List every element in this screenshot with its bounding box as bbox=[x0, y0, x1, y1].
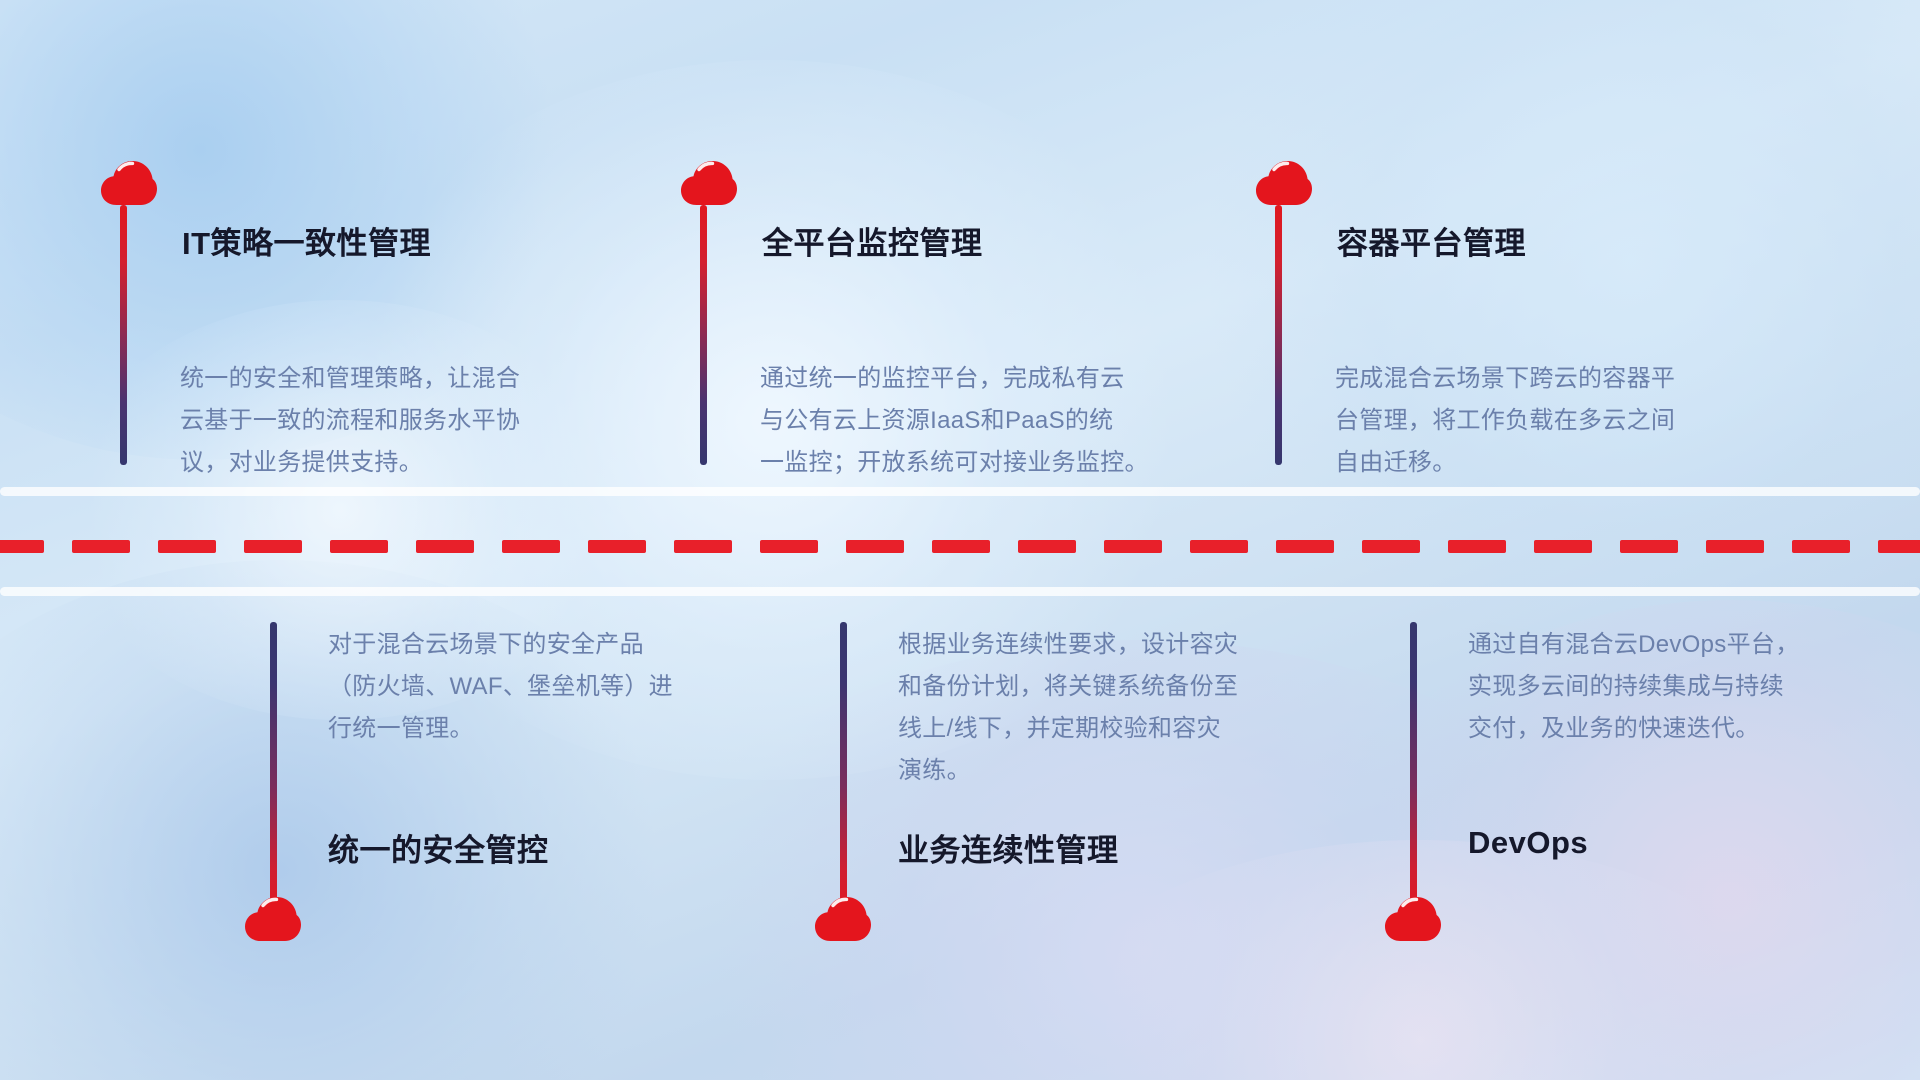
connector-line bbox=[120, 205, 127, 465]
cloud-icon bbox=[1255, 160, 1313, 210]
divider-dash bbox=[760, 540, 818, 553]
body-line: 自由迁移。 bbox=[1335, 442, 1805, 484]
top-column-title: IT策略一致性管理 bbox=[182, 218, 431, 263]
top-column-title: 容器平台管理 bbox=[1337, 218, 1526, 263]
infographic-canvas: IT策略一致性管理 统一的安全和管理策略，让混合 云基于一致的流程和服务水平协 … bbox=[0, 0, 1920, 1080]
body-line: 台管理，将工作负载在多云之间 bbox=[1335, 400, 1805, 442]
body-line: 实现多云间的持续集成与持续 bbox=[1468, 666, 1898, 708]
top-row: IT策略一致性管理 统一的安全和管理策略，让混合 云基于一致的流程和服务水平协 … bbox=[0, 0, 1920, 480]
divider-dash bbox=[1276, 540, 1334, 553]
cloud-icon bbox=[1384, 896, 1442, 946]
divider-bar-lower bbox=[0, 587, 1920, 596]
divider-dash bbox=[416, 540, 474, 553]
body-line: 完成混合云场景下跨云的容器平 bbox=[1335, 358, 1805, 400]
body-line: 对于混合云场景下的安全产品 bbox=[328, 624, 758, 666]
divider-dash bbox=[1104, 540, 1162, 553]
connector-line bbox=[700, 205, 707, 465]
body-line: （防火墙、WAF、堡垒机等）进 bbox=[328, 666, 758, 708]
dashed-divider bbox=[0, 540, 1920, 553]
divider-dash bbox=[1878, 540, 1920, 553]
bottom-column-title: 统一的安全管控 bbox=[328, 825, 549, 870]
divider-bar-upper bbox=[0, 487, 1920, 496]
body-line: 行统一管理。 bbox=[328, 708, 758, 750]
body-line: 演练。 bbox=[898, 750, 1328, 792]
body-line: 与公有云上资源IaaS和PaaS的统 bbox=[760, 400, 1230, 442]
top-column-body: 统一的安全和管理策略，让混合 云基于一致的流程和服务水平协 议，对业务提供支持。 bbox=[180, 358, 650, 484]
body-line: 一监控；开放系统可对接业务监控。 bbox=[760, 442, 1230, 484]
divider-dash bbox=[72, 540, 130, 553]
divider-dash bbox=[244, 540, 302, 553]
divider-dash bbox=[1448, 540, 1506, 553]
bottom-row: 对于混合云场景下的安全产品 （防火墙、WAF、堡垒机等）进 行统一管理。 统一的… bbox=[0, 600, 1920, 1080]
bottom-column-title: 业务连续性管理 bbox=[898, 825, 1119, 870]
divider-dash bbox=[1362, 540, 1420, 553]
connector-line bbox=[270, 622, 277, 922]
divider-dash bbox=[1620, 540, 1678, 553]
divider-dash bbox=[158, 540, 216, 553]
body-line: 和备份计划，将关键系统备份至 bbox=[898, 666, 1328, 708]
divider-dash bbox=[1792, 540, 1850, 553]
body-line: 根据业务连续性要求，设计容灾 bbox=[898, 624, 1328, 666]
connector-line bbox=[1275, 205, 1282, 465]
divider-dash bbox=[502, 540, 560, 553]
divider-dash bbox=[932, 540, 990, 553]
connector-line bbox=[840, 622, 847, 922]
body-line: 通过自有混合云DevOps平台， bbox=[1468, 624, 1898, 666]
divider-dash bbox=[674, 540, 732, 553]
top-column-title: 全平台监控管理 bbox=[762, 218, 983, 263]
bottom-column-body: 通过自有混合云DevOps平台， 实现多云间的持续集成与持续 交付，及业务的快速… bbox=[1468, 624, 1898, 750]
body-line: 统一的安全和管理策略，让混合 bbox=[180, 358, 650, 400]
divider-dash bbox=[588, 540, 646, 553]
divider-dash bbox=[1706, 540, 1764, 553]
cloud-icon bbox=[244, 896, 302, 946]
bottom-column-body: 对于混合云场景下的安全产品 （防火墙、WAF、堡垒机等）进 行统一管理。 bbox=[328, 624, 758, 750]
body-line: 交付，及业务的快速迭代。 bbox=[1468, 708, 1898, 750]
body-line: 云基于一致的流程和服务水平协 bbox=[180, 400, 650, 442]
divider-dash bbox=[1018, 540, 1076, 553]
divider-dash bbox=[1534, 540, 1592, 553]
body-line: 议，对业务提供支持。 bbox=[180, 442, 650, 484]
divider-dash bbox=[0, 540, 44, 553]
cloud-icon bbox=[680, 160, 738, 210]
body-line: 通过统一的监控平台，完成私有云 bbox=[760, 358, 1230, 400]
bottom-column-body: 根据业务连续性要求，设计容灾 和备份计划，将关键系统备份至 线上/线下，并定期校… bbox=[898, 624, 1328, 792]
cloud-icon bbox=[100, 160, 158, 210]
bottom-column-title: DevOps bbox=[1468, 825, 1588, 861]
cloud-icon bbox=[814, 896, 872, 946]
top-column-body: 通过统一的监控平台，完成私有云 与公有云上资源IaaS和PaaS的统 一监控；开… bbox=[760, 358, 1230, 484]
divider-dash bbox=[846, 540, 904, 553]
divider-dash bbox=[1190, 540, 1248, 553]
divider-dash bbox=[330, 540, 388, 553]
body-line: 线上/线下，并定期校验和容灾 bbox=[898, 708, 1328, 750]
top-column-body: 完成混合云场景下跨云的容器平 台管理，将工作负载在多云之间 自由迁移。 bbox=[1335, 358, 1805, 484]
connector-line bbox=[1410, 622, 1417, 922]
